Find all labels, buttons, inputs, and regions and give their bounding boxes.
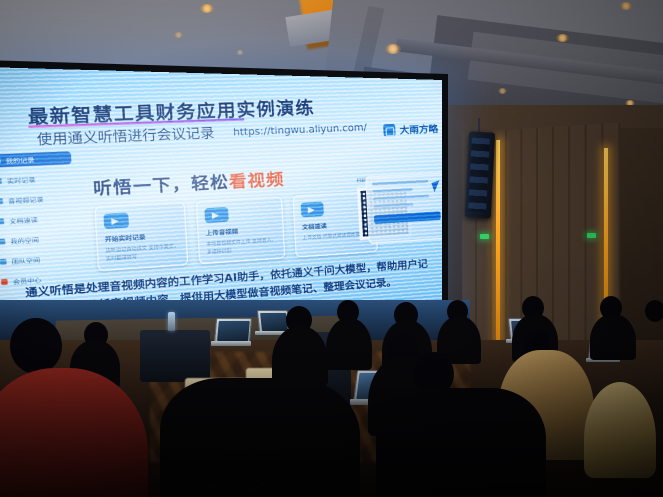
conference-hall-photo: 最新智慧工具财务应用实例演练 使用通义听悟进行会议记录 https://ting…: [0, 0, 663, 497]
downlight-icon: [556, 34, 569, 42]
card-title: 上传音视频: [206, 224, 276, 237]
headline-accent: 看视频: [228, 169, 285, 192]
audience-person: [272, 326, 328, 386]
sidebar-item-4[interactable]: 我的空间: [0, 231, 74, 249]
audience-person: [590, 314, 636, 360]
brand-logo: 大雨方略: [383, 121, 438, 137]
downlight-icon: [236, 50, 244, 55]
slide-headline: 听悟一下，轻松看视频: [92, 167, 285, 200]
sidebar-item-label: 实时记录: [7, 175, 36, 186]
exit-sign-icon: [587, 233, 596, 238]
feature-card[interactable]: 上传音视频 本地音视频文件上传 支持百人、多语种识别: [196, 196, 286, 264]
brand-mark-icon: [383, 124, 396, 136]
downlight-icon: [174, 32, 183, 38]
panel-row: [372, 180, 428, 186]
water-bottle: [168, 312, 175, 331]
laptop-base: [211, 341, 251, 346]
sidebar-item-label: 音视频记录: [8, 194, 44, 205]
audience-person: [326, 318, 372, 370]
upload-video-icon: [204, 207, 228, 223]
document-read-icon: [301, 202, 324, 218]
record-icon: [103, 213, 129, 229]
sidebar-item-label: 文档速读: [9, 215, 38, 226]
downlight-icon: [620, 2, 632, 10]
slide-url: https://tingwu.aliyun.com/: [233, 123, 367, 139]
card-desc: 本地音视频文件上传 支持百人、多语种识别: [206, 237, 277, 256]
audience-head: [10, 318, 62, 374]
list-icon: [0, 158, 1, 164]
sidebar-item-3[interactable]: 文档速读: [0, 211, 73, 228]
card-desc: 边听边记自动成文 支持中英文，实时翻译转写: [105, 243, 179, 263]
laptop: [211, 318, 251, 348]
headline-main: 听悟一下，轻松: [93, 172, 230, 199]
laptop-screen: [217, 321, 250, 341]
sidebar-item-1[interactable]: 实时记录: [0, 171, 70, 188]
sidebar-item-label: 我的空间: [10, 235, 39, 246]
crown-icon: [1, 279, 8, 285]
video-icon: [0, 198, 3, 204]
audience-head: [645, 300, 663, 322]
card-title: 开始实时记录: [105, 230, 179, 244]
sidebar-item-label: 我的记录: [5, 155, 34, 166]
sidebar-item-label: 团队空间: [11, 255, 40, 266]
team-icon: [0, 259, 7, 265]
laptop-screen: [260, 313, 288, 331]
sidebar-item-0[interactable]: 我的记录: [0, 151, 72, 167]
audience-person-foreground: [376, 388, 546, 497]
mic-icon: [0, 178, 2, 184]
led-screen: 最新智慧工具财务应用实例演练 使用通义听悟进行会议记录 https://ting…: [0, 67, 442, 314]
laptop-lid: [214, 318, 252, 343]
document-icon: [0, 218, 4, 224]
exit-sign-icon: [480, 234, 489, 239]
panel-cta-button[interactable]: [374, 211, 441, 224]
slide-content: 最新智慧工具财务应用实例演练 使用通义听悟进行会议记录 https://ting…: [0, 67, 442, 314]
feature-card[interactable]: 开始实时记录 边听边记自动成文 支持中英文，实时翻译转写: [94, 201, 188, 271]
draped-table: [140, 330, 210, 382]
sidebar-item-5[interactable]: 团队空间: [0, 251, 75, 269]
line-array-speaker: [465, 131, 495, 218]
panel-row: [372, 188, 412, 193]
brand-name: 大雨方略: [399, 121, 438, 136]
app-sidebar: 我的记录 实时记录 音视频记录 文档速读 我的空间: [0, 151, 76, 296]
folder-icon: [0, 239, 5, 245]
panel-row: [373, 195, 429, 201]
panel-row: [373, 203, 413, 209]
sidebar-item-2[interactable]: 音视频记录: [0, 191, 71, 208]
downlight-icon: [385, 44, 401, 54]
downlight-icon: [200, 4, 214, 13]
feature-cards: 开始实时记录 边听边记自动成文 支持中英文，实时翻译转写 上传音视频 本地音视频…: [94, 191, 378, 271]
downlight-icon: [498, 88, 507, 94]
